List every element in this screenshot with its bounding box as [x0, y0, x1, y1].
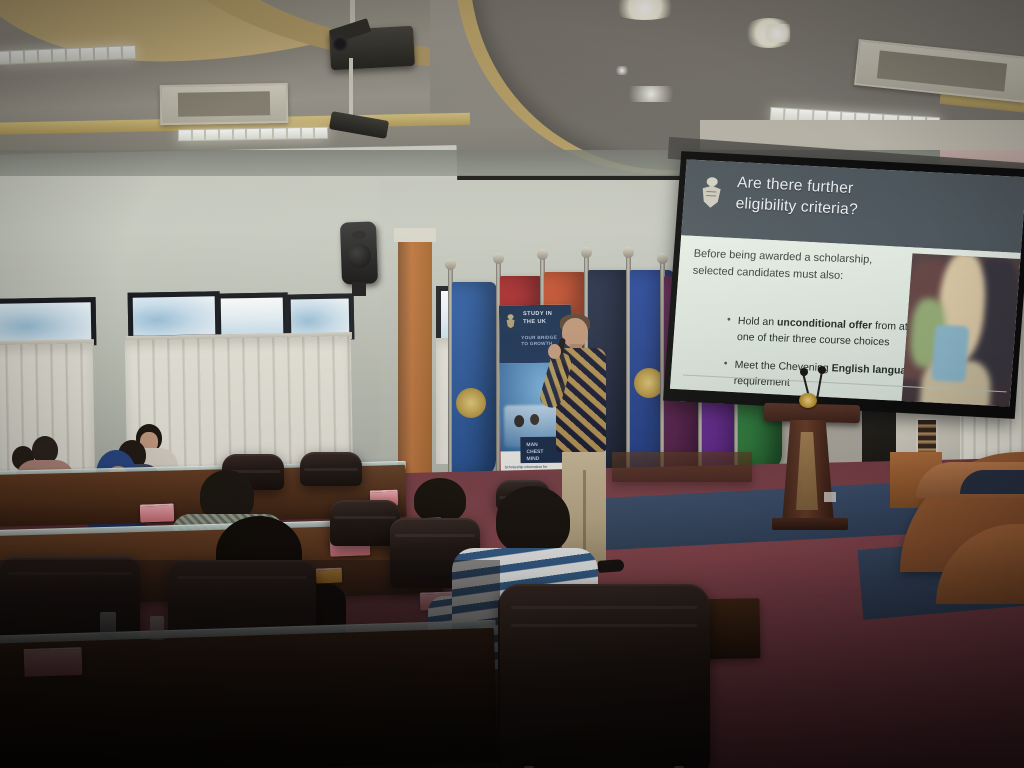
presenter-shoe	[598, 559, 625, 573]
projector-drop-pole	[349, 58, 353, 120]
loudspeaker-woofer-icon	[347, 244, 371, 268]
attendee-striped-shirt-head	[496, 486, 570, 554]
desk-row-0	[612, 452, 752, 482]
column-capital	[394, 228, 436, 242]
slide: Are there further eligibility criteria? …	[670, 159, 1024, 406]
ceiling-ac-vent-left	[160, 83, 289, 125]
presenter-hand	[548, 344, 561, 359]
flag-stand-1	[448, 268, 453, 484]
loudspeaker-tweeter-icon	[352, 231, 366, 239]
flag-blue-1	[452, 282, 496, 478]
wall-column-wood-clad	[398, 236, 432, 486]
dais-inner-recess	[960, 470, 1024, 494]
chair-back-2[interactable]	[300, 452, 362, 486]
podium-microphone-head-1	[800, 368, 808, 376]
snack-box-2	[140, 503, 175, 522]
flag-emblem-1	[456, 388, 486, 418]
podium-base	[772, 518, 848, 530]
slide-photo	[898, 253, 1020, 406]
podium-microphone-head-2	[818, 366, 826, 374]
attendee-mid-right-head	[414, 478, 466, 522]
ceiling-downlight-4	[620, 86, 682, 102]
chair-foreground-right[interactable]	[498, 584, 710, 768]
projector-lens-icon	[332, 36, 348, 52]
uk-government-crest-icon	[697, 174, 726, 213]
garuda-emblem-icon	[799, 393, 817, 408]
foreground-shadow	[0, 560, 500, 768]
loudspeaker-bracket	[352, 282, 366, 296]
slide-lead-text: Before being awarded a scholarship, sele…	[692, 246, 904, 286]
flag-stand-5	[626, 256, 631, 484]
ceiling-downlight-3	[764, 24, 790, 42]
ceiling-downlight-5	[614, 66, 630, 75]
window-transom-2	[128, 291, 221, 341]
podium-nameplate	[824, 492, 836, 502]
slide-body: Before being awarded a scholarship, sele…	[670, 235, 1021, 406]
presentation-room-photo: STUDY IN THE UK YOUR BRIDGE TO GROWTH MA…	[0, 0, 1024, 768]
projection-screen: Are there further eligibility criteria? …	[663, 151, 1024, 419]
uk-crest-icon	[504, 312, 517, 331]
slide-title: Are there further eligibility criteria?	[735, 172, 968, 227]
